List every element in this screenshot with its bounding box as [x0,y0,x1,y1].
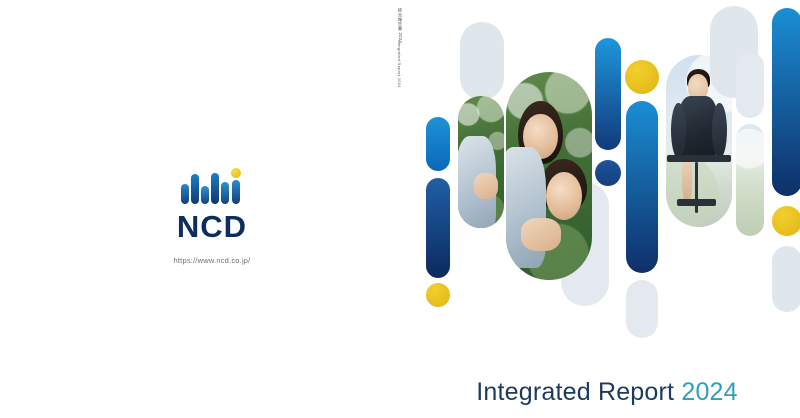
child-arms [521,218,561,251]
pill-midblue-tall [626,101,658,273]
pill-soft-tall-left [460,22,504,100]
logo-bar-1 [181,184,189,204]
child-face-front [546,172,582,220]
logo-yellow-dot-icon [231,168,241,178]
logo-bar-4 [211,173,219,204]
child-arm [474,173,499,199]
pill-navy-far-right [772,8,800,196]
cover-title: Integrated Report 2024 [414,378,800,406]
ncd-wordmark: NCD [158,210,266,244]
man-leg [682,155,693,203]
front-cover-panel: Integrated Report 2024 [414,0,800,418]
book-spine: 統合報告書 2024 Integrated Report 2024 [392,0,414,418]
cover-title-year: 2024 [681,378,737,406]
bike-lower-frame [677,199,717,206]
logo-bar-3 [201,186,209,204]
greenery-background [736,124,764,236]
spine-english-title: Integrated Report 2024 [397,40,401,88]
capsule-mosaic-artwork [414,0,800,340]
logo-bar-2 [191,174,199,204]
pill-lightblue-small [426,117,450,171]
ncd-logo-block: NCD https://www.ncd.co.jp/ [158,168,266,268]
back-cover-panel: NCD https://www.ncd.co.jp/ [0,0,392,418]
dot-navy-mid [595,160,621,186]
dot-yellow-mid [625,60,659,94]
photo-green-strip [736,124,764,236]
photo-kids-narrow [458,96,504,228]
dot-yellow-right [772,206,800,236]
bike-handlebar [667,155,730,162]
dot-yellow-left [426,283,450,307]
logo-bar-5 [221,182,229,204]
photo-kids-wide [506,72,592,280]
spine-japanese-title: 統合報告書 2024 [397,8,403,43]
ncd-bar-chart-logo-icon [181,168,243,204]
company-url-text: https://www.ncd.co.jp/ [158,256,266,265]
logo-bar-6 [232,180,240,204]
pill-soft-low-mid [626,280,658,338]
pill-navy-tall [426,178,450,278]
man-left-arm [671,103,686,158]
report-cover-spread: NCD https://www.ncd.co.jp/ 統合報告書 2024 In… [0,0,800,418]
pill-soft-far-right [772,246,800,312]
pill-brightblue-tall [595,38,621,150]
cover-title-main: Integrated Report [476,378,681,406]
pill-soft-right [736,52,764,118]
man-right-arm [712,103,727,158]
